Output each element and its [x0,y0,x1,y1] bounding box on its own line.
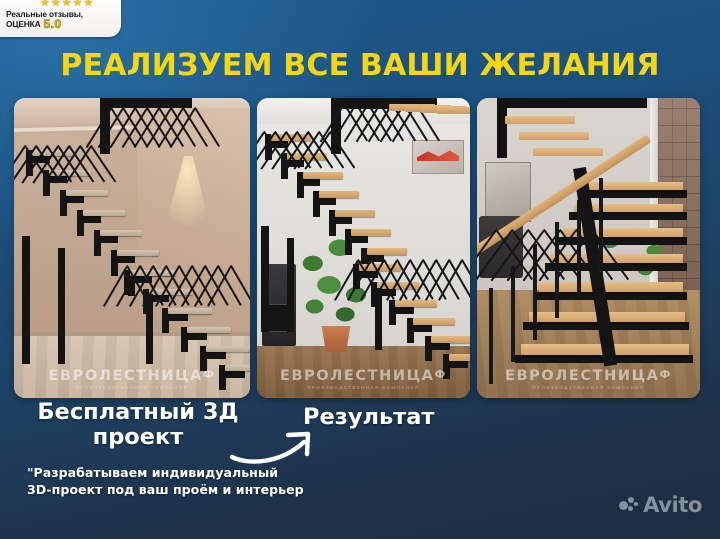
avito-logo-icon [619,497,638,514]
staircase-photo-image-1 [257,98,470,398]
badge-line-score: ОЦЕНКА5.0 [6,19,113,29]
rating-badge: ★ ★ ★ ★ ★ Реальные отзывы, ОЦЕНКА5.0 [0,0,121,37]
curved-arrow-icon [228,424,326,468]
description-line-2: 3D-проект под ваш проём и интерьер [27,481,304,498]
star-icon: ★ [72,0,82,7]
avito-brand-label: Avito [643,493,702,517]
star-icon: ★ [62,0,72,7]
photo-card-installed-2[interactable]: ЕВРОЛЕСТНИЦАФ ПРОИЗВОДСТВЕННАЯ КОМПАНИЯ [477,98,700,398]
star-icon: ★ [51,0,61,7]
description-text: "Разрабатываем индивидуальный 3D-проект … [27,464,304,498]
photo-gallery: ЕВРОЛЕСТНИЦАФ ПРОИЗВОДСТВЕННАЯ КОМПАНИЯ … [14,98,706,398]
label-free-3d-project: Бесплатный 3Д проект [22,400,254,450]
badge-score-label: ОЦЕНКА [6,19,41,29]
staircase-3d-render-image [14,98,250,398]
avito-watermark: Avito [619,493,702,517]
star-icon: ★ [40,0,50,7]
photo-card-3d-render[interactable]: ЕВРОЛЕСТНИЦАФ ПРОИЗВОДСТВЕННАЯ КОМПАНИЯ [14,98,250,398]
page-title: РЕАЛИЗУЕМ ВСЕ ВАШИ ЖЕЛАНИЯ [0,48,720,83]
promo-banner: ★ ★ ★ ★ ★ Реальные отзывы, ОЦЕНКА5.0 РЕА… [0,0,720,539]
photo-card-installed-1[interactable]: ЕВРОЛЕСТНИЦАФ ПРОИЗВОДСТВЕННАЯ КОМПАНИЯ [257,98,470,398]
star-rating: ★ ★ ★ ★ ★ [20,0,113,7]
staircase-photo-image-2 [477,98,700,398]
badge-score-value: 5.0 [44,17,62,31]
description-line-1: "Разрабатываем индивидуальный [27,464,304,481]
star-icon: ★ [83,0,93,7]
